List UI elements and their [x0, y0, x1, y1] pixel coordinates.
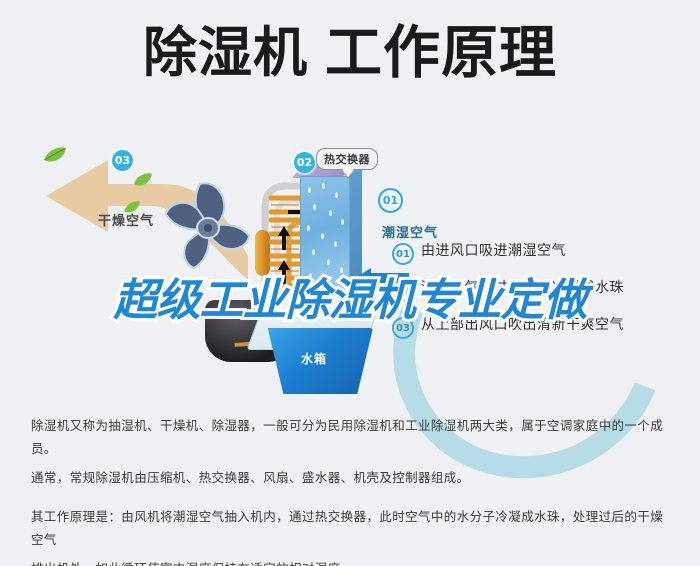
- description-copy: 除湿机又称为抽湿机、干燥机、除湿器，一般可分为民用除湿机和工业除湿机两大类，属于…: [31, 414, 671, 566]
- leaf-icon-2: [132, 172, 154, 188]
- dry-air-label: 干燥空气: [98, 210, 154, 229]
- promo-headline-overlay: 超级工业除湿机专业定做: [0, 264, 700, 328]
- humid-air-label: 潮湿空气: [382, 222, 438, 241]
- heat-exchanger-callout: 热交换器: [316, 148, 378, 170]
- page-root: 除湿机 工作原理: [0, 0, 700, 566]
- diagram-badge-01: 01: [378, 188, 403, 213]
- diagram-badge-02: 02: [294, 152, 315, 173]
- paragraph-1-line-2: 通常，常规除湿机由压缩机、热交换器、风扇、盛水器、机壳及控制器组成。: [31, 466, 671, 489]
- water-tank-label: 水箱: [301, 350, 327, 367]
- flow-arrow-up-1: [278, 226, 290, 250]
- step-text: 由进风口吸进潮湿空气: [421, 242, 566, 260]
- title-part-1: 除湿机: [143, 22, 308, 84]
- step-number: 01: [392, 243, 414, 265]
- page-title: 除湿机 工作原理: [0, 22, 700, 84]
- promo-headline-text: 超级工业除湿机专业定做: [114, 264, 587, 328]
- paragraph-1-line-1: 除湿机又称为抽湿机、干燥机、除湿器，一般可分为民用除湿机和工业除湿机两大类，属于…: [31, 414, 671, 460]
- diagram-badge-03: 03: [112, 150, 133, 171]
- paragraph-2-line-2: 排出机外，如此循环使室内湿度保持在适宜的相对湿度。: [31, 557, 671, 566]
- title-part-2: 工作原理: [325, 22, 557, 84]
- paragraph-2-line-1: 其工作原理是：由风机将潮湿空气抽入机内，通过热交换器，此时空气中的水分子冷凝成水…: [31, 505, 671, 551]
- list-item: 01 由进风口吸进潮湿空气: [392, 242, 692, 265]
- leaf-icon-1: [42, 146, 68, 164]
